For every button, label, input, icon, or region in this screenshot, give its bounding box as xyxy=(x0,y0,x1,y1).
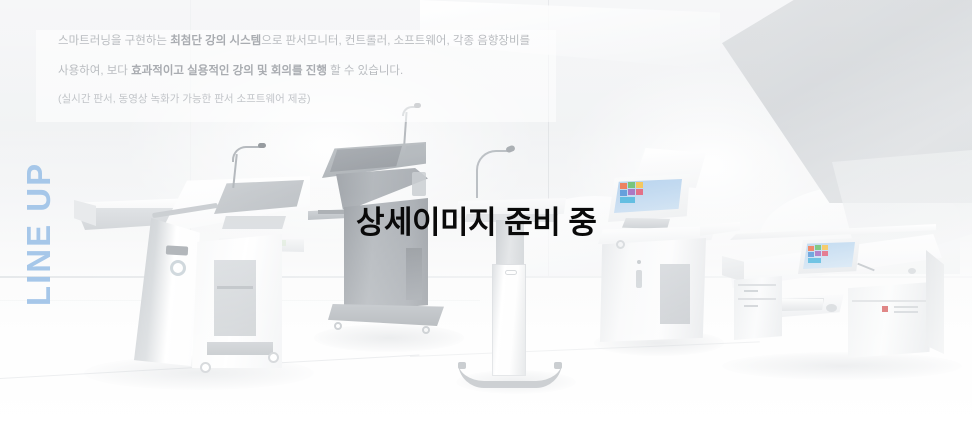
caster-wheel xyxy=(268,352,279,363)
drawer-divider xyxy=(738,298,776,300)
detail-image-pending-notice: 상세이미지 준비 중 xyxy=(356,197,596,242)
curved-base xyxy=(458,362,562,388)
control-plate xyxy=(166,245,188,255)
lower-equipment-panel xyxy=(207,342,273,355)
copy-line-2-part-1: 사용하여, 보다 xyxy=(58,65,131,77)
cabinet-divider xyxy=(852,300,926,302)
caster-wheel xyxy=(422,326,430,334)
screen-tile xyxy=(628,189,635,195)
door-lock xyxy=(637,260,641,264)
equipment-window xyxy=(214,260,256,336)
screen-tile xyxy=(628,182,635,188)
ventilation-window xyxy=(660,264,690,324)
product-teacher-desk xyxy=(722,222,962,372)
microphone-gooseneck xyxy=(476,150,510,172)
caster-wheel xyxy=(334,322,342,330)
microphone-stem xyxy=(476,170,478,198)
connector-strip xyxy=(894,311,918,313)
cable-access-panel xyxy=(406,248,422,300)
drawer-handle xyxy=(744,290,758,292)
cable-grommet xyxy=(908,268,916,274)
side-control-strip xyxy=(412,172,426,196)
keyboard xyxy=(776,298,824,311)
drawer-handle xyxy=(744,305,758,307)
product-shadow xyxy=(722,352,962,380)
copy-line-3: (실시간 판서, 동영상 녹화가 가능한 판서 소프트웨어 제공) xyxy=(58,94,558,105)
drawer-divider xyxy=(738,284,776,286)
product-white-mobile-lectern xyxy=(74,156,304,382)
door-handle xyxy=(636,270,642,288)
desk-left-edge xyxy=(722,256,744,282)
screen-tile xyxy=(815,251,821,256)
microphone-head xyxy=(258,143,266,148)
desk-rear-rail xyxy=(730,224,936,240)
microphone-gooseneck xyxy=(232,146,262,162)
column-body xyxy=(492,264,526,376)
product-slim-column-lectern xyxy=(456,148,566,388)
caster-wheel xyxy=(200,362,211,373)
power-indicator xyxy=(882,306,888,312)
podium-base-plate xyxy=(328,304,444,326)
product-cabinet-digital-podium xyxy=(596,152,716,342)
copy-line-2-part-2: 할 수 있습니다. xyxy=(327,65,403,77)
speaker-ring xyxy=(616,240,625,249)
copy-line-1-part-2: 으로 판서모니터, 컨트롤러, 소프트웨어, 각종 음향장비를 xyxy=(261,35,530,47)
brand-plate xyxy=(505,270,517,275)
product-lineup-banner: 스마트러닝을 구현하는 최첨단 강의 시스템으로 판서모니터, 컨트롤러, 소프… xyxy=(0,0,972,430)
product-dark-digital-podium xyxy=(318,136,448,348)
copy-line-1-part-1: 스마트러닝을 구현하는 xyxy=(58,35,170,47)
lectern-left-body xyxy=(134,218,200,366)
microphone-head xyxy=(505,145,516,154)
connector-strip xyxy=(894,306,918,308)
screen-tile xyxy=(636,189,643,195)
desk-right-edge xyxy=(926,250,944,354)
copy-line-2: 사용하여, 보다 효과적이고 실용적인 강의 및 회의를 진행 할 수 있습니다… xyxy=(58,66,558,78)
screen-tile xyxy=(822,245,828,250)
right-cabinet-pedestal xyxy=(848,282,932,358)
marketing-copy: 스마트러닝을 구현하는 최첨단 강의 시스템으로 판서모니터, 컨트롤러, 소프… xyxy=(58,36,558,105)
cabinet-body xyxy=(600,238,706,342)
screen-tile xyxy=(636,182,643,188)
screen-tile xyxy=(620,197,635,203)
screen-tile xyxy=(808,252,814,257)
speaker-ring xyxy=(170,260,186,276)
screen-tile xyxy=(822,251,828,256)
keyboard xyxy=(622,218,670,229)
copy-line-1-emphasis: 최첨단 강의 시스템 xyxy=(170,35,261,47)
mouse xyxy=(826,304,837,312)
screen-tile xyxy=(620,183,627,189)
monitor-bezel-lower xyxy=(222,216,286,229)
copy-line-2-emphasis: 효과적이고 실용적인 강의 및 회의를 진행 xyxy=(131,65,327,77)
screen-tile xyxy=(808,258,821,263)
screen-tile xyxy=(808,246,814,251)
lineup-side-label: LINE UP xyxy=(17,149,61,319)
base-foot xyxy=(458,362,466,369)
copy-line-1: 스마트러닝을 구현하는 최첨단 강의 시스템으로 판서모니터, 컨트롤러, 소프… xyxy=(58,36,558,48)
screen-tile xyxy=(620,190,627,196)
screen-tile xyxy=(815,245,821,250)
base-foot xyxy=(554,362,562,369)
equipment-shelf xyxy=(217,286,253,289)
